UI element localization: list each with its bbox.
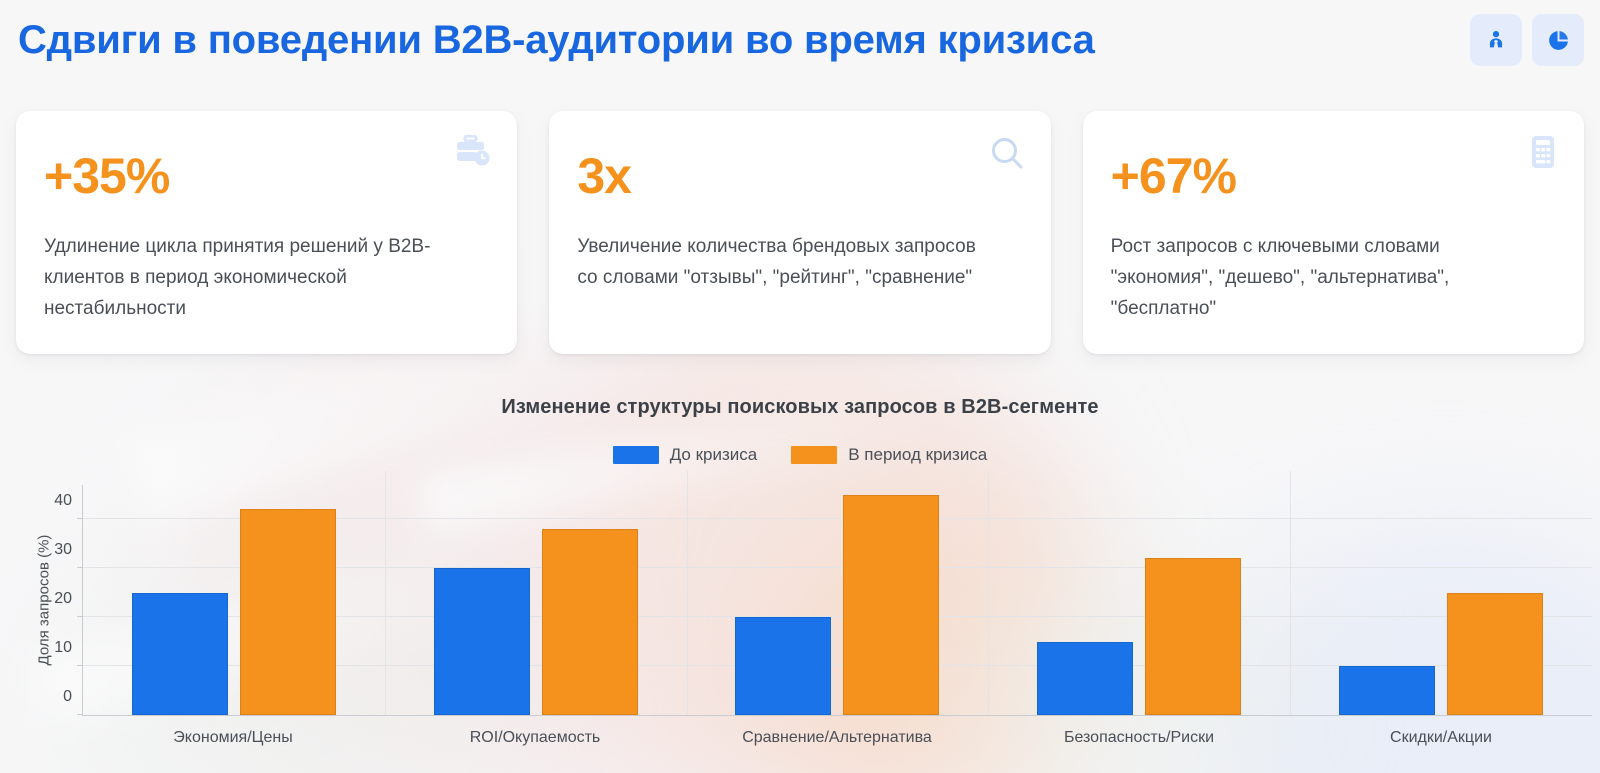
- stat-card: +35% Удлинение цикла принятия решений у …: [16, 111, 517, 354]
- y-tick-label: 40: [54, 492, 72, 510]
- stat-description: Рост запросов с ключевыми словами "эконо…: [1111, 232, 1511, 324]
- chart-title: Изменение структуры поисковых запросов в…: [0, 396, 1600, 419]
- bar[interactable]: [1339, 666, 1435, 715]
- bar[interactable]: [1037, 642, 1133, 715]
- bar[interactable]: [735, 617, 831, 715]
- y-tick-label: 10: [54, 639, 72, 657]
- stat-card-list: +35% Удлинение цикла принятия решений у …: [0, 80, 1600, 354]
- bar-group: [385, 485, 687, 715]
- x-axis-label: Экономия/Цены: [82, 729, 384, 747]
- search-icon: [989, 135, 1025, 171]
- bar-group: [1290, 485, 1592, 715]
- pie-chart-button[interactable]: [1532, 14, 1584, 66]
- stat-value: 3x: [577, 151, 1022, 201]
- bar[interactable]: [843, 495, 939, 715]
- chart-block: Изменение структуры поисковых запросов в…: [0, 396, 1600, 747]
- chart-legend: До кризисаВ период кризиса: [0, 445, 1600, 465]
- header-actions: [1470, 14, 1584, 66]
- chart-x-axis-labels: Экономия/ЦеныROI/ОкупаемостьСравнение/Ал…: [0, 729, 1600, 747]
- bar-group: [988, 485, 1290, 715]
- bar[interactable]: [132, 593, 228, 715]
- x-axis-label: Сравнение/Альтернатива: [686, 729, 988, 747]
- pie-chart-icon: [1547, 29, 1570, 52]
- stat-description: Удлинение цикла принятия решений у B2B-к…: [44, 232, 444, 324]
- y-tick-label: 20: [54, 590, 72, 608]
- chart-plot: 010203040: [82, 485, 1592, 716]
- x-axis-label: Безопасность/Риски: [988, 729, 1290, 747]
- y-tick-label: 30: [54, 541, 72, 559]
- bar[interactable]: [542, 529, 638, 715]
- page-title: Сдвиги в поведении B2B-аудитории во врем…: [18, 18, 1470, 63]
- calculator-icon: [1528, 135, 1558, 169]
- stat-value: +67%: [1111, 151, 1556, 201]
- bar[interactable]: [240, 509, 336, 715]
- stat-card: 3x Увеличение количества брендовых запро…: [549, 111, 1050, 354]
- y-axis-title: Доля запросов (%): [36, 500, 53, 700]
- stat-card: +67% Рост запросов с ключевыми словами "…: [1083, 111, 1584, 354]
- legend-swatch: [791, 446, 837, 464]
- chart-bar-groups: [83, 485, 1592, 715]
- stat-description: Увеличение количества брендовых запросов…: [577, 232, 977, 294]
- bar-group: [83, 485, 385, 715]
- legend-label: В период кризиса: [848, 445, 987, 465]
- bar[interactable]: [1145, 558, 1241, 715]
- chart-plot-area: Доля запросов (%) 010203040: [0, 485, 1600, 715]
- legend-item[interactable]: До кризиса: [613, 445, 758, 465]
- y-tick-label: 0: [63, 688, 72, 706]
- legend-item[interactable]: В период кризиса: [791, 445, 987, 465]
- bar[interactable]: [434, 568, 530, 715]
- bar[interactable]: [1447, 593, 1543, 715]
- legend-label: До кризиса: [670, 445, 758, 465]
- stat-value: +35%: [44, 151, 489, 201]
- user-tie-icon: [1485, 29, 1507, 51]
- legend-swatch: [613, 446, 659, 464]
- page-header: Сдвиги в поведении B2B-аудитории во врем…: [0, 0, 1600, 80]
- x-axis-label: Скидки/Акции: [1290, 729, 1592, 747]
- bar-group: [687, 485, 989, 715]
- x-axis-label: ROI/Окупаемость: [384, 729, 686, 747]
- briefcase-clock-icon: [453, 135, 491, 169]
- user-tie-button[interactable]: [1470, 14, 1522, 66]
